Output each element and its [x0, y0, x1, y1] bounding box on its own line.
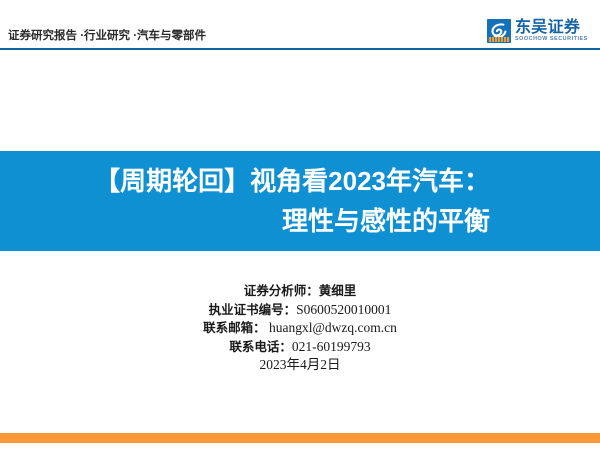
- license-number: S0600520010001: [296, 302, 391, 317]
- phone-row: 联系电话：021-60199793: [0, 338, 600, 357]
- license-row: 执业证书编号：S0600520010001: [0, 301, 600, 320]
- analyst-name: 黄细里: [319, 284, 357, 298]
- license-label: 执业证书编号：: [209, 303, 297, 317]
- email-row: 联系邮箱： huangxl@dwzq.com.cn: [0, 319, 600, 338]
- logo-name-en: SOOCHOW SECURITIES: [515, 36, 588, 43]
- logo-base-stripes: [488, 37, 510, 42]
- title-banner: 【周期轮回】视角看2023年汽车： 理性与感性的平衡: [0, 151, 600, 251]
- analyst-label: 证券分析师：: [244, 284, 319, 298]
- company-logo: 东吴证券 SOOCHOW SECURITIES: [487, 19, 593, 46]
- page-title-line-1: 【周期轮回】视角看2023年汽车：: [94, 166, 490, 196]
- footer-accent-bar: [0, 433, 600, 443]
- email-label: 联系邮箱：: [203, 321, 266, 335]
- logo-name-cn: 东吴证券: [515, 19, 588, 36]
- header-divider: [0, 48, 600, 50]
- analyst-row: 证券分析师：黄细里: [0, 282, 600, 301]
- report-cover-page: 证券研究报告 ·行业研究 ·汽车与零部件 东吴证券 SOOCHOW SECURI…: [0, 0, 600, 450]
- analyst-info-block: 证券分析师：黄细里 执业证书编号：S0600520010001 联系邮箱： hu…: [0, 282, 600, 375]
- email-address: huangxl@dwzq.com.cn: [269, 320, 397, 335]
- breadcrumb: 证券研究报告 ·行业研究 ·汽车与零部件: [8, 29, 206, 43]
- page-title-line-2: 理性与感性的平衡: [282, 206, 490, 236]
- phone-label: 联系电话：: [229, 340, 292, 354]
- logo-wordmark: 东吴证券 SOOCHOW SECURITIES: [515, 19, 588, 43]
- soochow-swirl-icon: [487, 19, 511, 43]
- publication-date: 2023年4月2日: [0, 356, 600, 375]
- phone-number: 021-60199793: [292, 339, 371, 354]
